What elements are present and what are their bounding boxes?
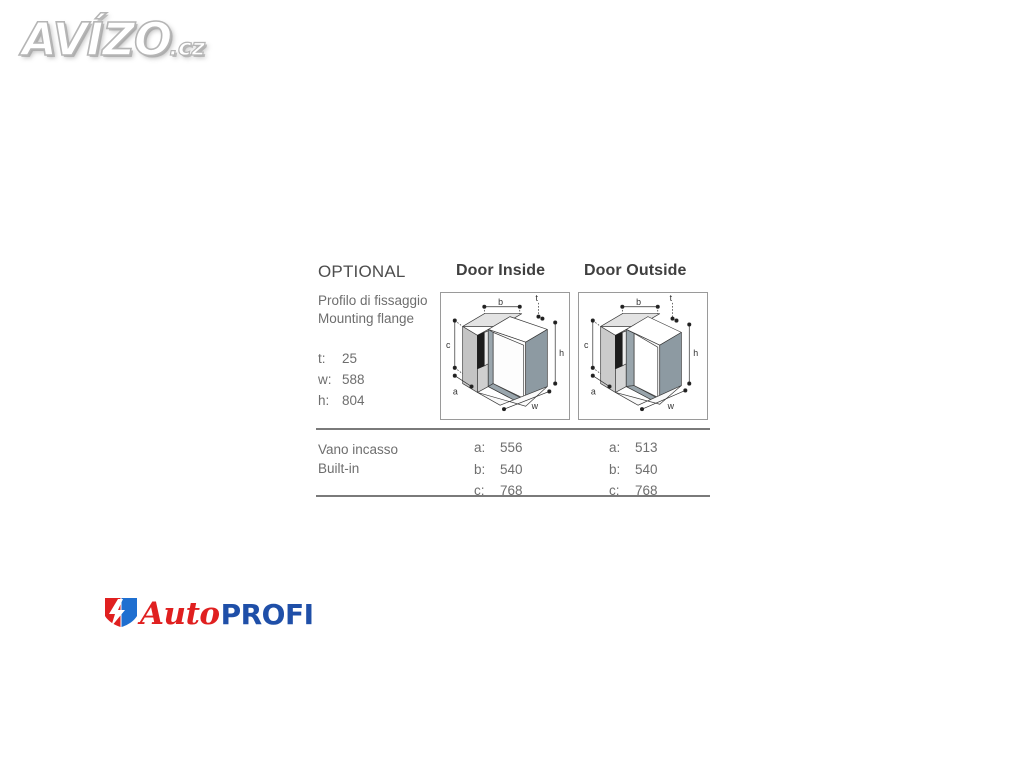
autoprofi-word-profi: PROFI bbox=[221, 595, 314, 635]
dimension-value-w: 588 bbox=[342, 372, 365, 387]
autoprofi-wordmark: AutoPROFI bbox=[140, 594, 314, 634]
autoprofi-logo: AutoPROFI bbox=[104, 594, 312, 636]
builtin-row-c-outside: c:768 bbox=[609, 480, 658, 502]
label-w-outside: w bbox=[667, 401, 675, 411]
diagram-door-inside: c a b t h w bbox=[440, 292, 570, 420]
builtin-value-b-outside: 540 bbox=[635, 462, 658, 477]
builtin-key-c-inside: c: bbox=[474, 480, 500, 502]
divider-rule-top bbox=[316, 428, 710, 430]
divider-rule-bottom bbox=[316, 495, 710, 497]
avizo-brand-text: AVÍZO bbox=[22, 14, 171, 66]
label-a-outside: a bbox=[591, 386, 596, 396]
label-b-outside: b bbox=[636, 297, 641, 307]
builtin-row-c-inside: c:768 bbox=[474, 480, 523, 502]
optional-dimensions-list: t:25 w:588 h:804 bbox=[318, 348, 365, 411]
optional-description: Profilo di fissaggio Mounting flange bbox=[318, 292, 442, 327]
label-h-inside: h bbox=[559, 348, 564, 358]
heading-door-inside: Door Inside bbox=[456, 262, 545, 280]
label-t-inside: t bbox=[536, 293, 539, 303]
dimension-key-h: h: bbox=[318, 390, 342, 411]
dimension-row-t: t:25 bbox=[318, 348, 365, 369]
dimension-key-w: w: bbox=[318, 369, 342, 390]
heading-optional: OPTIONAL bbox=[318, 262, 406, 282]
builtin-values-door-inside: a:556 b:540 c:768 bbox=[474, 437, 523, 502]
optional-description-it: Profilo di fissaggio bbox=[318, 292, 442, 310]
builtin-key-b-outside: b: bbox=[609, 459, 635, 481]
diagram-door-outside: c a b t h w bbox=[578, 292, 708, 420]
technical-spec-sheet: OPTIONAL Door Inside Door Outside Profil… bbox=[316, 262, 712, 502]
label-c-inside: c bbox=[446, 340, 451, 350]
builtin-row-a-outside: a:513 bbox=[609, 437, 658, 459]
builtin-label: Vano incasso Built-in bbox=[318, 440, 398, 478]
dimension-key-t: t: bbox=[318, 348, 342, 369]
dimension-value-t: 25 bbox=[342, 351, 357, 366]
builtin-values-door-outside: a:513 b:540 c:768 bbox=[609, 437, 658, 502]
label-c-outside: c bbox=[584, 340, 589, 350]
builtin-key-a-inside: a: bbox=[474, 437, 500, 459]
autoprofi-word-auto: Auto bbox=[140, 594, 220, 634]
builtin-key-a-outside: a: bbox=[609, 437, 635, 459]
builtin-row-b-outside: b:540 bbox=[609, 459, 658, 481]
avizo-tld-text: .cz bbox=[169, 35, 205, 61]
lightning-bolt-shield-icon bbox=[104, 596, 138, 630]
door-inside-isometric-drawing: c a b t h w bbox=[441, 293, 569, 419]
builtin-row-b-inside: b:540 bbox=[474, 459, 523, 481]
avizo-watermark-logo: AVÍZO.cz bbox=[22, 14, 262, 70]
builtin-value-a-outside: 513 bbox=[635, 440, 658, 455]
dimension-value-h: 804 bbox=[342, 393, 365, 408]
builtin-row-a-inside: a:556 bbox=[474, 437, 523, 459]
builtin-label-en: Built-in bbox=[318, 459, 398, 478]
label-b-inside: b bbox=[498, 297, 503, 307]
builtin-key-b-inside: b: bbox=[474, 459, 500, 481]
label-a-inside: a bbox=[453, 386, 458, 396]
heading-door-outside: Door Outside bbox=[584, 262, 687, 280]
builtin-label-it: Vano incasso bbox=[318, 440, 398, 459]
builtin-value-a-inside: 556 bbox=[500, 440, 523, 455]
door-outside-isometric-drawing: c a b t h w bbox=[579, 293, 707, 419]
dimension-row-w: w:588 bbox=[318, 369, 365, 390]
spec-headings-row: OPTIONAL Door Inside Door Outside bbox=[316, 262, 712, 290]
optional-description-en: Mounting flange bbox=[318, 310, 442, 328]
dimension-row-h: h:804 bbox=[318, 390, 365, 411]
label-w-inside: w bbox=[531, 401, 539, 411]
builtin-key-c-outside: c: bbox=[609, 480, 635, 502]
label-h-outside: h bbox=[693, 348, 698, 358]
builtin-value-b-inside: 540 bbox=[500, 462, 523, 477]
label-t-outside: t bbox=[670, 293, 673, 303]
